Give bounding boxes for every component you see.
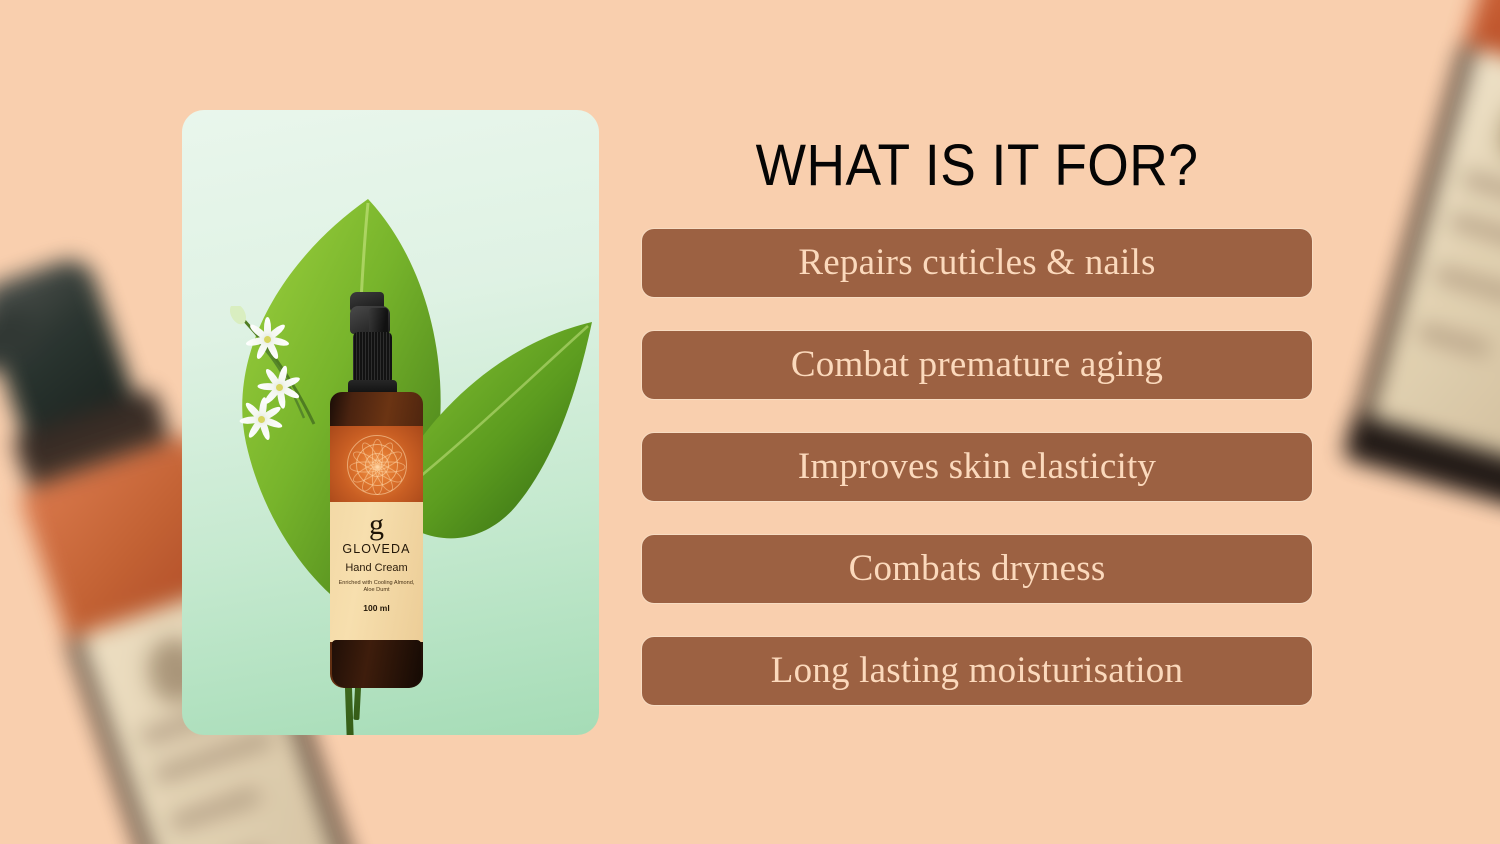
flower-bloom [244,316,290,362]
product-name: Hand Cream [330,562,423,574]
benefit-item-2[interactable]: Combat premature aging [641,330,1313,400]
page-title: WHAT IS IT FOR? [668,130,1286,202]
benefit-item-4[interactable]: Combats dryness [641,534,1313,604]
blurred-bottle-shoulder-label [1460,0,1500,108]
flower-bloom [238,396,284,442]
blurred-bottle-text-line [168,786,263,832]
pump-collar [353,332,392,384]
flower-center [264,336,271,343]
blurred-bottle-cap [0,253,140,450]
benefits-panel: WHAT IS IT FOR? Repairs cuticles & nails… [641,130,1313,706]
brand-logo-mark: g [330,510,423,540]
blurred-bottle-text-line [1448,212,1500,259]
bottle-front-label: g GLOVEDA Hand Cream Enriched with Cooli… [330,502,423,642]
blurred-bottle-text-line [1460,170,1500,212]
blurred-bottle-base [1342,413,1500,510]
product-description: Enriched with Cooling Almond, Aloe Dumt [330,580,423,595]
flower-center [276,384,283,391]
bottle-base [332,640,421,688]
blurred-bottle-nozzle [0,304,40,377]
benefit-label: Improves skin elasticity [798,447,1156,487]
blurred-product-bottle-right [1305,0,1500,539]
benefit-item-1[interactable]: Repairs cuticles & nails [641,228,1313,298]
product-scene: g GLOVEDA Hand Cream Enriched with Cooli… [182,110,599,735]
slide-canvas: g GLOVEDA Hand Cream Enriched with Cooli… [0,0,1500,844]
bottle-mandala-label [330,426,423,504]
product-bottle: g GLOVEDA Hand Cream Enriched with Cooli… [330,292,423,688]
benefit-label: Long lasting moisturisation [771,651,1183,691]
flower-center [258,416,265,423]
benefit-item-5[interactable]: Long lasting moisturisation [641,636,1313,706]
product-size: 100 ml [330,603,423,613]
benefit-label: Repairs cuticles & nails [798,243,1155,283]
blurred-bottle-logo [1495,92,1500,171]
blurred-bottle-text-line [1416,323,1491,358]
product-photo-card: g GLOVEDA Hand Cream Enriched with Cooli… [182,110,599,735]
blurred-bottle-text-line [1433,265,1500,304]
blurred-bottle-body-label [1352,44,1500,480]
blurred-bottle-text-line [151,729,274,785]
blurred-bottle-collar [12,388,177,503]
benefit-label: Combat premature aging [791,345,1163,385]
brand-name: GLOVEDA [330,542,423,556]
benefit-item-3[interactable]: Improves skin elasticity [641,432,1313,502]
benefit-label: Combats dryness [849,549,1106,589]
